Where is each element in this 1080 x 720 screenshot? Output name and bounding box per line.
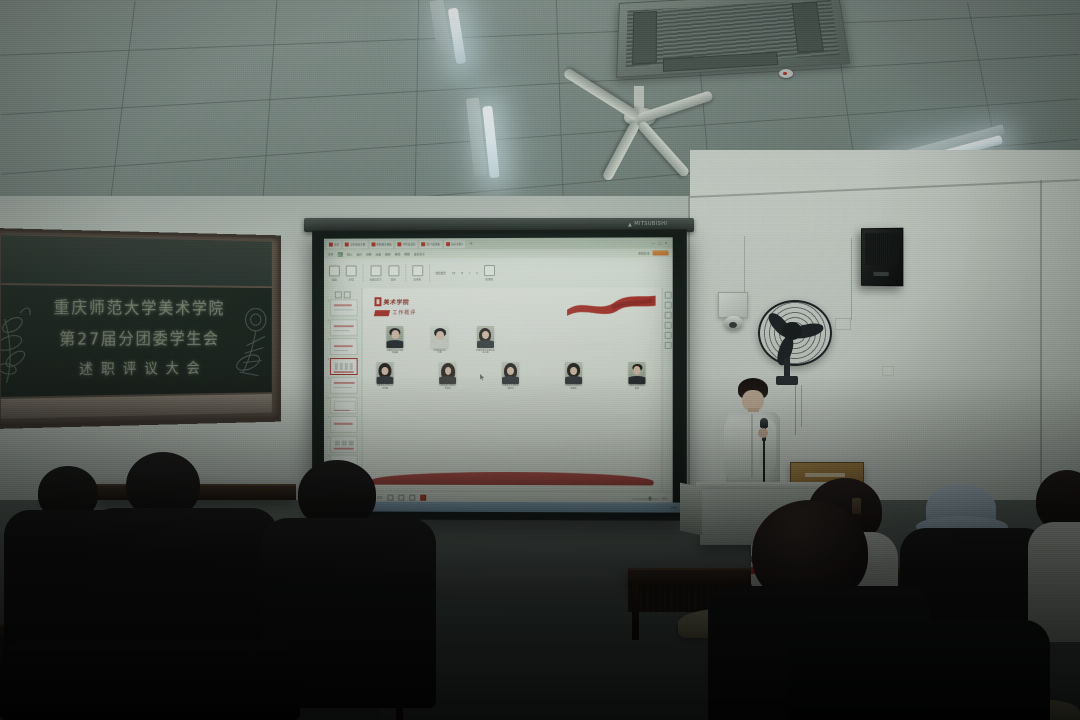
upgrade-member-button[interactable]: [653, 250, 669, 255]
chart-icon[interactable]: [664, 322, 671, 329]
ribbon-cut-group[interactable]: 剪切: [346, 265, 357, 281]
ribbon-paste-group[interactable]: 粘贴: [329, 265, 340, 281]
wps-doc-tab-label: 演示文稿1: [451, 242, 463, 246]
ribbon-tab-member[interactable]: 会员专享: [414, 252, 425, 256]
wps-doc-tab[interactable]: 学生会总结: [396, 240, 418, 248]
portrait-photo: [431, 326, 448, 348]
jacket-placket: [751, 414, 753, 478]
portrait-photo: [439, 362, 456, 384]
font-size-select[interactable]: 18: [452, 272, 455, 275]
college-seal-icon: [375, 297, 382, 306]
slide-number: 8: [326, 435, 329, 438]
photo-scene: 重庆师范大学美术学院 第27届分团委学生会 述 职 评 议 大 会 ▲MITSU…: [0, 0, 1080, 720]
attendee-torso: [790, 620, 1050, 720]
slide-number: 7: [326, 416, 329, 419]
search-command-input[interactable]: 查找命令: [638, 251, 649, 255]
ribbon-label: 新建幻灯片: [370, 277, 382, 281]
presenter: [718, 378, 788, 498]
ribbon-newslide-group[interactable]: 新建幻灯片: [370, 265, 382, 281]
ribbon-format-painter-group[interactable]: 格式刷: [484, 265, 495, 281]
ribbon-tab-slideshow[interactable]: 放映: [385, 252, 391, 256]
blackboard-line-2: 第27届分团委学生会: [1, 325, 272, 350]
smoke-detector-led: [783, 72, 787, 75]
portrait-cell: 分团委文艺部部长 周佳怡: [502, 362, 519, 391]
microphone-cord: [763, 440, 765, 482]
wall-speaker: [861, 228, 903, 287]
wps-file-icon: [398, 242, 402, 246]
blackboard-upper-panel: [1, 235, 272, 286]
portrait-photo: [502, 362, 519, 384]
blackboard-line-1: 重庆师范大学美术学院: [1, 293, 272, 319]
thumbnail-icon[interactable]: [344, 291, 351, 298]
zoom-out-button[interactable]: –: [628, 497, 629, 500]
new-tab-button[interactable]: +: [469, 241, 473, 247]
paste-icon: [329, 265, 340, 276]
slide-thumb-item[interactable]: 8: [326, 435, 360, 452]
portrait-name: 张鑫磊: [387, 352, 404, 355]
portrait-photo: [628, 362, 645, 384]
slide-thumb-item[interactable]: 7: [326, 416, 360, 433]
underline-button[interactable]: U: [476, 272, 478, 275]
red-ribbon-decoration: [565, 294, 658, 320]
wps-doc-tab-label: 工作总结汇报: [350, 242, 365, 246]
slide-section-title: 工作概评: [375, 309, 417, 316]
ribbon-tab-animation[interactable]: 动画: [376, 252, 382, 256]
ribbon-tab-insert[interactable]: 插入: [347, 252, 353, 256]
attendee-torso: [0, 640, 300, 720]
portrait-caption: 分团委学生会主席 张鑫磊: [387, 350, 404, 355]
presenter-left-arm: [724, 420, 740, 478]
attendee-6: [1032, 470, 1080, 620]
portrait-caption: 分团委副书记 王珊: [433, 350, 445, 355]
slide-thumbnail: [330, 319, 358, 336]
light-switch[interactable]: [835, 318, 851, 330]
speaker-badge: [873, 272, 888, 276]
slide-thumbnail: [330, 299, 358, 316]
attendee-2: [104, 452, 264, 672]
wps-file-icon: [371, 242, 375, 246]
ribbon-label: 格式刷: [485, 277, 493, 281]
slide-number: 9: [326, 455, 329, 458]
slide-thumbnail: [330, 416, 358, 433]
cloud-icon[interactable]: [664, 342, 671, 349]
wps-doc-tab-label: 述职报告模板: [376, 242, 391, 246]
blackboard-chalk-tray: [1, 394, 272, 419]
ribbon-tab-home[interactable]: 开始: [337, 252, 343, 257]
slide-section-text: 工作概评: [392, 309, 416, 316]
design-icon[interactable]: [664, 292, 671, 299]
ribbon-textbox-group[interactable]: 文本框: [412, 265, 423, 281]
slide-thumb-item[interactable]: 5: [326, 377, 360, 394]
ribbon-tab-design[interactable]: 设计: [356, 252, 362, 256]
portrait-caption: 分团委文艺部部长 周佳怡: [502, 385, 519, 390]
ribbon-tab-transition[interactable]: 切换: [366, 252, 372, 256]
close-button[interactable]: ✕: [665, 241, 668, 245]
ribbon-label: 剪切: [349, 277, 354, 281]
window-controls[interactable]: — ▢ ✕: [652, 241, 670, 245]
ribbon-layout-group[interactable]: 版式: [388, 265, 399, 281]
slide-thumbnail: [330, 338, 358, 355]
slide-thumb-item[interactable]: 6: [326, 396, 360, 413]
slide-thumbnail: [330, 396, 358, 413]
portrait-cell: 分团委实践部部长 赵凯: [628, 362, 645, 391]
chair-back-slot: [805, 473, 845, 477]
slide-number: 3: [326, 338, 329, 341]
wps-doc-tab-label: 首页: [334, 242, 339, 246]
slide-number: 6: [326, 396, 329, 399]
zoom-controls[interactable]: – 56%: [628, 497, 667, 500]
cut-icon: [346, 265, 357, 276]
diagram-icon[interactable]: [664, 312, 671, 319]
portrait-photo: [386, 326, 403, 348]
portrait-grid: 分团委学生会主席 张鑫磊: [377, 326, 652, 391]
slide-number: 1: [326, 299, 329, 302]
podium-side-panel: [680, 483, 702, 536]
portrait-name: 杨梦瑶: [565, 388, 582, 391]
ribbon-label: 粘贴: [332, 277, 337, 281]
portrait-photo: [377, 362, 394, 384]
mouse-cursor-icon: [480, 374, 485, 381]
wps-ribbon[interactable]: 粘贴 剪切 新建幻灯片 版式 文本框: [324, 257, 673, 289]
portrait-name: 刘芳琳: [377, 388, 394, 391]
slide-thumbnail: [330, 435, 358, 452]
wps-file-icon: [422, 242, 426, 246]
presenter-hand: [758, 428, 768, 438]
wall-fan-hub: [782, 322, 802, 340]
element-icon[interactable]: [664, 302, 671, 309]
wps-home-icon: [329, 242, 333, 246]
maximize-button[interactable]: ▢: [658, 241, 661, 245]
portrait-caption: 分团委学生会副主席 陈芷涵: [476, 350, 495, 355]
attendee-8: [790, 620, 1050, 720]
italic-button[interactable]: I: [469, 272, 470, 275]
portrait-caption: 分团委办公室主任 刘芳琳: [377, 385, 394, 390]
portrait-caption: 分团委实践部部长 赵凯: [629, 385, 646, 390]
ribbon-tab-view[interactable]: 视图: [404, 252, 410, 256]
portrait-photo: [477, 326, 494, 348]
portrait-caption: 分团委宣传部部长 李思琪: [439, 385, 456, 390]
wall-fan-pull-cord[interactable]: [795, 385, 796, 435]
ceiling-fan-mount: [634, 86, 644, 110]
portrait-name: 赵凯: [629, 388, 646, 391]
slide-number: 2: [326, 319, 329, 322]
slide-logo: 美术学院: [375, 297, 410, 306]
media-icon[interactable]: [664, 332, 671, 339]
portrait-row-2: 分团委办公室主任 刘芳琳: [377, 362, 652, 391]
wps-doc-tab[interactable]: 工作总结汇报: [343, 240, 367, 248]
ribbon-tab-review[interactable]: 审阅: [395, 252, 401, 256]
camera-lens-icon: [729, 322, 737, 328]
blackboard: 重庆师范大学美术学院 第27届分团委学生会 述 职 评 议 大 会: [0, 228, 281, 429]
power-outlet: [882, 366, 894, 376]
bold-button[interactable]: B: [461, 272, 463, 275]
portrait-cell: 分团委学生会主席 张鑫磊: [386, 326, 403, 355]
outline-icon[interactable]: [335, 291, 342, 298]
font-name-select[interactable]: 微软雅黑: [436, 271, 446, 275]
attendee-9: [0, 640, 300, 720]
blackboard-line-3: 述 职 评 议 大 会: [1, 357, 272, 380]
wps-doc-tab[interactable]: 演示文稿1: [444, 240, 465, 248]
taskbar-clock: 19:08: [670, 506, 677, 509]
wps-doc-tab-label: 学生会总结: [403, 242, 416, 246]
slide-number: 4: [326, 358, 329, 361]
slide-thumb-item[interactable]: 1: [326, 299, 360, 316]
portrait-cell: 分团委体育部部长 杨梦瑶: [565, 362, 582, 391]
portrait-cell: 分团委副书记 王珊: [431, 326, 448, 355]
portrait-name: 李思琪: [439, 388, 456, 391]
ribbon-label: 版式: [391, 277, 396, 281]
screen-brand-label: ▲MITSUBISHI: [628, 221, 667, 227]
portrait-row-1: 分团委学生会主席 张鑫磊: [377, 326, 652, 355]
zoom-level: 56%: [662, 497, 668, 500]
minimize-button[interactable]: —: [652, 241, 656, 245]
slide-logo-text: 美术学院: [383, 297, 410, 306]
wps-doc-tab-active[interactable]: 第27届述职: [420, 240, 443, 248]
slide-thumb-item[interactable]: 2: [326, 319, 360, 336]
textbox-icon: [412, 265, 423, 276]
ribbon-label: 文本框: [414, 277, 421, 281]
wall-fan-pull-cord[interactable]: [801, 385, 802, 427]
portrait-name: 陈芷涵: [476, 352, 495, 355]
right-tool-rail[interactable]: [662, 288, 673, 493]
wps-doc-tab[interactable]: 述职报告模板: [369, 240, 393, 248]
format-painter-icon: [484, 265, 495, 276]
slide-thumb-item-selected[interactable]: 4: [326, 358, 360, 375]
portrait-name: 周佳怡: [502, 388, 519, 391]
blackboard-writing-surface: 重庆师范大学美术学院 第27届分团委学生会 述 职 评 议 大 会: [1, 285, 272, 397]
zoom-slider[interactable]: [633, 498, 659, 499]
layout-icon: [388, 265, 399, 276]
portrait-caption: 分团委体育部部长 杨梦瑶: [565, 385, 582, 390]
slide-thumbnail: [330, 377, 358, 394]
mitsubishi-logo-icon: ▲: [628, 222, 632, 228]
portrait-cell: 分团委办公室主任 刘芳琳: [377, 362, 394, 391]
section-chip: [374, 310, 390, 316]
ribbon-tab-file[interactable]: 文件: [328, 252, 334, 256]
wps-doc-tab[interactable]: 首页: [327, 240, 341, 248]
wps-file-icon: [446, 242, 450, 246]
slide-number: 5: [326, 377, 329, 380]
portrait-cell: 分团委宣传部部长 李思琪: [439, 362, 456, 391]
new-slide-icon: [370, 265, 381, 276]
junction-box: [718, 292, 748, 318]
wps-file-icon: [345, 242, 349, 246]
portrait-cell: 分团委学生会副主席 陈芷涵: [476, 326, 495, 355]
slide-thumb-item[interactable]: 3: [326, 338, 360, 355]
speaker-grille: [865, 233, 900, 265]
wps-doc-tab-label: 第27届述职: [426, 242, 440, 246]
portrait-name: 王珊: [433, 352, 445, 355]
slide-thumbnail-current: [330, 358, 358, 375]
slide-panel-header[interactable]: [326, 291, 360, 297]
portrait-photo: [565, 362, 582, 384]
